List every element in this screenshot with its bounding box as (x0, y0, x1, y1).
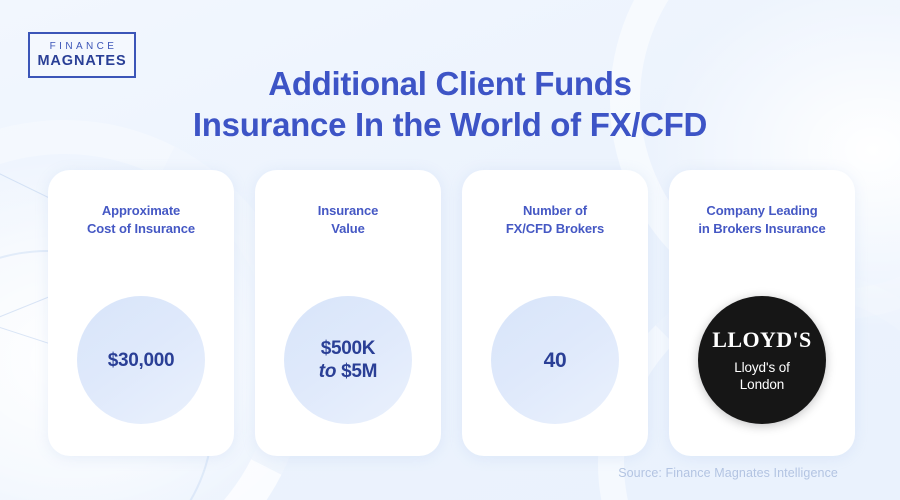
stat-value: $30,000 (108, 349, 175, 372)
card-heading-line-2: in Brokers Insurance (679, 220, 845, 238)
logo-line-finance: FINANCE (47, 40, 118, 53)
stat-value-range-upper: $5M (341, 361, 377, 382)
source-attribution: Source: Finance Magnates Intelligence (618, 466, 838, 480)
page-title: Additional Client Funds Insurance In the… (0, 63, 900, 145)
card-heading-line-2: FX/CFD Brokers (472, 220, 638, 238)
lloyds-company-name-line-2: London (734, 376, 790, 393)
card-heading: Approximate Cost of Insurance (58, 202, 224, 237)
lloyds-logo-badge: LLOYD'S Lloyd's of London (698, 296, 826, 424)
card-heading-line-1: Approximate (58, 202, 224, 220)
stat-card-broker-count: Number of FX/CFD Brokers 40 (462, 170, 648, 456)
lloyds-company-name-line-1: Lloyd's of (734, 359, 790, 376)
card-heading-line-2: Cost of Insurance (58, 220, 224, 238)
lloyds-company-name: Lloyd's of London (734, 359, 790, 393)
stat-circle: $500K to $5M (284, 296, 412, 424)
stat-card-row: Approximate Cost of Insurance $30,000 In… (48, 170, 855, 456)
page-title-line-2: Insurance In the World of FX/CFD (0, 104, 900, 145)
stat-circle: 40 (491, 296, 619, 424)
card-heading-line-1: Company Leading (679, 202, 845, 220)
card-heading: Number of FX/CFD Brokers (472, 202, 638, 237)
card-heading: Insurance Value (265, 202, 431, 237)
card-heading-line-2: Value (265, 220, 431, 238)
stat-card-insurance-value: Insurance Value $500K to $5M (255, 170, 441, 456)
stat-value-line-1: $30,000 (108, 349, 175, 372)
stat-value-range-connector: to (319, 361, 336, 382)
stat-card-leading-company: Company Leading in Brokers Insurance LLO… (669, 170, 855, 456)
stat-value-line-1: 40 (544, 349, 567, 372)
card-heading-line-1: Insurance (265, 202, 431, 220)
lloyds-wordmark: LLOYD'S (712, 328, 811, 352)
page-title-line-1: Additional Client Funds (0, 63, 900, 104)
stat-value: 40 (544, 349, 567, 372)
stat-circle: $30,000 (77, 296, 205, 424)
stat-value-line-2: to $5M (319, 360, 377, 383)
stat-card-cost-of-insurance: Approximate Cost of Insurance $30,000 (48, 170, 234, 456)
stat-value-line-1: $500K (319, 337, 377, 360)
infographic-canvas: FINANCE MAGNATES Additional Client Funds… (0, 0, 900, 500)
card-heading: Company Leading in Brokers Insurance (679, 202, 845, 237)
card-heading-line-1: Number of (472, 202, 638, 220)
stat-value: $500K to $5M (319, 337, 377, 383)
